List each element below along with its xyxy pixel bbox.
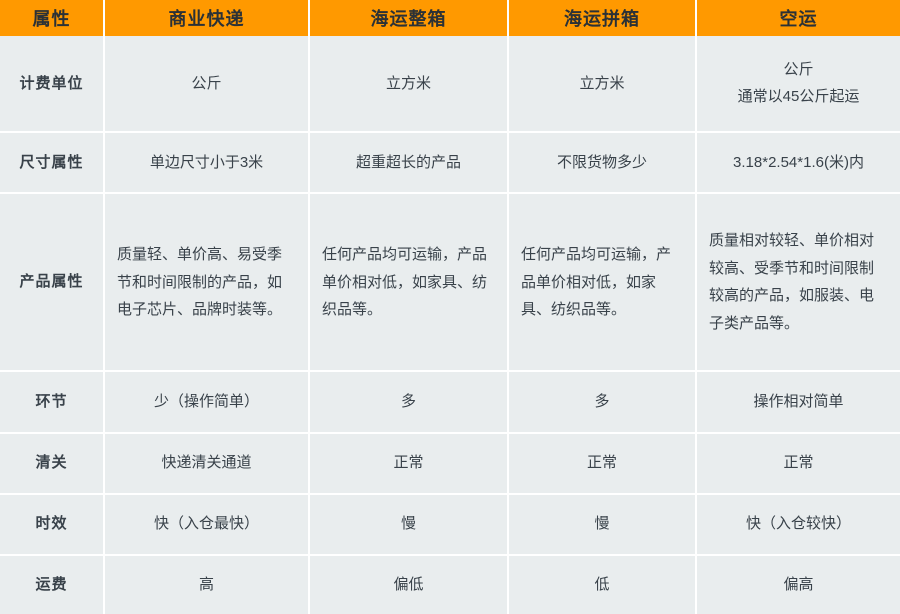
column-header-sea-lcl: 海运拼箱 (509, 0, 697, 36)
cell-customs-express: 快递清关通道 (105, 434, 310, 495)
cell-product-sea-lcl: 任何产品均可运输，产品单价相对低，如家具、纺织品等。 (509, 194, 697, 372)
row-label-billing-unit: 计费单位 (0, 36, 105, 133)
column-header-air: 空运 (697, 0, 900, 36)
row-label-size-attribute: 尺寸属性 (0, 133, 105, 194)
cell-billing-unit-air: 公斤 通常以45公斤起运 (697, 36, 900, 133)
cell-transit-time-sea-lcl: 慢 (509, 495, 697, 556)
cell-product-air: 质量相对较轻、单价相对较高、受季节和时间限制较高的产品，如服装、电子类产品等。 (697, 194, 900, 372)
cell-freight-cost-sea-lcl: 低 (509, 556, 697, 614)
table-body: 计费单位 公斤 立方米 立方米 公斤 通常以45公斤起运 尺寸属性 单边尺寸小于… (0, 36, 900, 614)
cell-billing-unit-sea-fcl: 立方米 (310, 36, 509, 133)
cell-size-express: 单边尺寸小于3米 (105, 133, 310, 194)
table-row: 计费单位 公斤 立方米 立方米 公斤 通常以45公斤起运 (0, 36, 900, 133)
table-row: 尺寸属性 单边尺寸小于3米 超重超长的产品 不限货物多少 3.18*2.54*1… (0, 133, 900, 194)
row-label-customs: 清关 (0, 434, 105, 495)
cell-customs-sea-fcl: 正常 (310, 434, 509, 495)
table-row: 清关 快递清关通道 正常 正常 正常 (0, 434, 900, 495)
cell-transit-time-express: 快（入仓最快） (105, 495, 310, 556)
row-label-freight-cost: 运费 (0, 556, 105, 614)
column-header-attribute: 属性 (0, 0, 105, 36)
cell-freight-cost-air: 偏高 (697, 556, 900, 614)
cell-product-express: 质量轻、单价高、易受季节和时间限制的产品，如电子芯片、品牌时装等。 (105, 194, 310, 372)
shipping-method-comparison-table: 属性 商业快递 海运整箱 海运拼箱 空运 计费单位 公斤 立方米 立方米 公斤 … (0, 0, 900, 614)
row-label-product-attribute: 产品属性 (0, 194, 105, 372)
cell-billing-unit-express: 公斤 (105, 36, 310, 133)
table-row: 运费 高 偏低 低 偏高 (0, 556, 900, 614)
cell-size-sea-fcl: 超重超长的产品 (310, 133, 509, 194)
table-header: 属性 商业快递 海运整箱 海运拼箱 空运 (0, 0, 900, 36)
cell-freight-cost-express: 高 (105, 556, 310, 614)
cell-freight-cost-sea-fcl: 偏低 (310, 556, 509, 614)
table-row: 时效 快（入仓最快） 慢 慢 快（入仓较快） (0, 495, 900, 556)
table-row: 环节 少（操作简单） 多 多 操作相对简单 (0, 372, 900, 433)
cell-billing-unit-sea-lcl: 立方米 (509, 36, 697, 133)
column-header-express: 商业快递 (105, 0, 310, 36)
cell-size-air: 3.18*2.54*1.6(米)内 (697, 133, 900, 194)
row-label-steps: 环节 (0, 372, 105, 433)
row-label-transit-time: 时效 (0, 495, 105, 556)
cell-transit-time-sea-fcl: 慢 (310, 495, 509, 556)
column-header-sea-fcl: 海运整箱 (310, 0, 509, 36)
cell-size-sea-lcl: 不限货物多少 (509, 133, 697, 194)
cell-steps-express: 少（操作简单） (105, 372, 310, 433)
cell-product-sea-fcl: 任何产品均可运输，产品单价相对低，如家具、纺织品等。 (310, 194, 509, 372)
cell-steps-air: 操作相对简单 (697, 372, 900, 433)
cell-steps-sea-fcl: 多 (310, 372, 509, 433)
cell-transit-time-air: 快（入仓较快） (697, 495, 900, 556)
cell-customs-sea-lcl: 正常 (509, 434, 697, 495)
cell-steps-sea-lcl: 多 (509, 372, 697, 433)
table-row: 产品属性 质量轻、单价高、易受季节和时间限制的产品，如电子芯片、品牌时装等。 任… (0, 194, 900, 372)
header-row: 属性 商业快递 海运整箱 海运拼箱 空运 (0, 0, 900, 36)
cell-customs-air: 正常 (697, 434, 900, 495)
